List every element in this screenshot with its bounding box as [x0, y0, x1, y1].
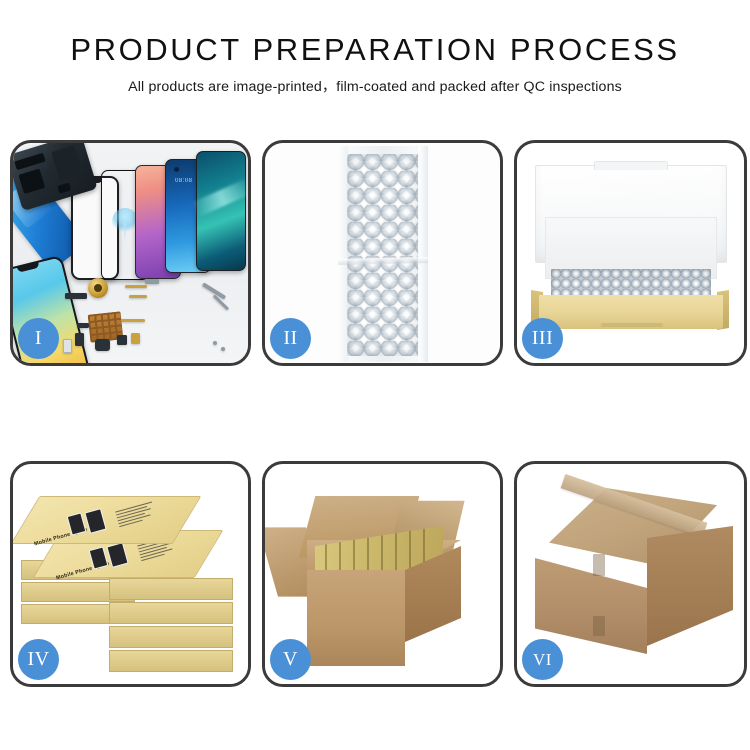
product-preparation-page: PRODUCT PREPARATION PROCESS All products… [0, 0, 750, 750]
screws-icon [213, 341, 217, 345]
speaker-module-icon [95, 339, 110, 351]
step-panel-6: VI [514, 461, 747, 687]
phone-screen-teal-icon [196, 151, 246, 271]
flex-cable-2-icon [129, 295, 147, 298]
vibration-motor-icon [88, 278, 108, 298]
sealed-carton-icon [535, 488, 733, 668]
page-subtitle: All products are image-printed，film-coat… [0, 76, 750, 96]
bubble-wrap-sleeve-icon [338, 146, 428, 362]
step-badge-5: V [270, 639, 311, 680]
screws-2-icon [221, 347, 225, 351]
page-title: PRODUCT PREPARATION PROCESS [0, 33, 750, 66]
process-steps-grid: 08:08 [10, 140, 745, 687]
step-panel-3: III [514, 140, 747, 366]
camera-module-icon [75, 333, 84, 346]
step-badge-4: IV [18, 639, 59, 680]
step-panel-5: V [262, 461, 503, 687]
step-badge-1: I [18, 318, 59, 359]
taptic-engine-icon [131, 333, 140, 344]
earpiece-speaker-icon [65, 293, 87, 299]
step-badge-2: II [270, 318, 311, 359]
sim-tray-icon [63, 339, 72, 353]
step-panel-1: 08:08 [10, 140, 251, 366]
battery-connector-icon [117, 335, 127, 345]
connector-small-icon [77, 323, 89, 328]
page-header: PRODUCT PREPARATION PROCESS All products… [0, 0, 750, 96]
step-panel-4: Mobile Phone Spare Parts Mobile Phone Sp… [10, 461, 251, 687]
open-carton-icon [291, 484, 471, 672]
flex-cable-3-icon [121, 319, 145, 322]
flex-cable-1-icon [125, 285, 147, 288]
power-button-icon [145, 279, 159, 284]
step-panel-2: II [262, 140, 503, 366]
open-mailer-box-icon [529, 165, 731, 335]
step-badge-6: VI [522, 639, 563, 680]
step-badge-3: III [522, 318, 563, 359]
